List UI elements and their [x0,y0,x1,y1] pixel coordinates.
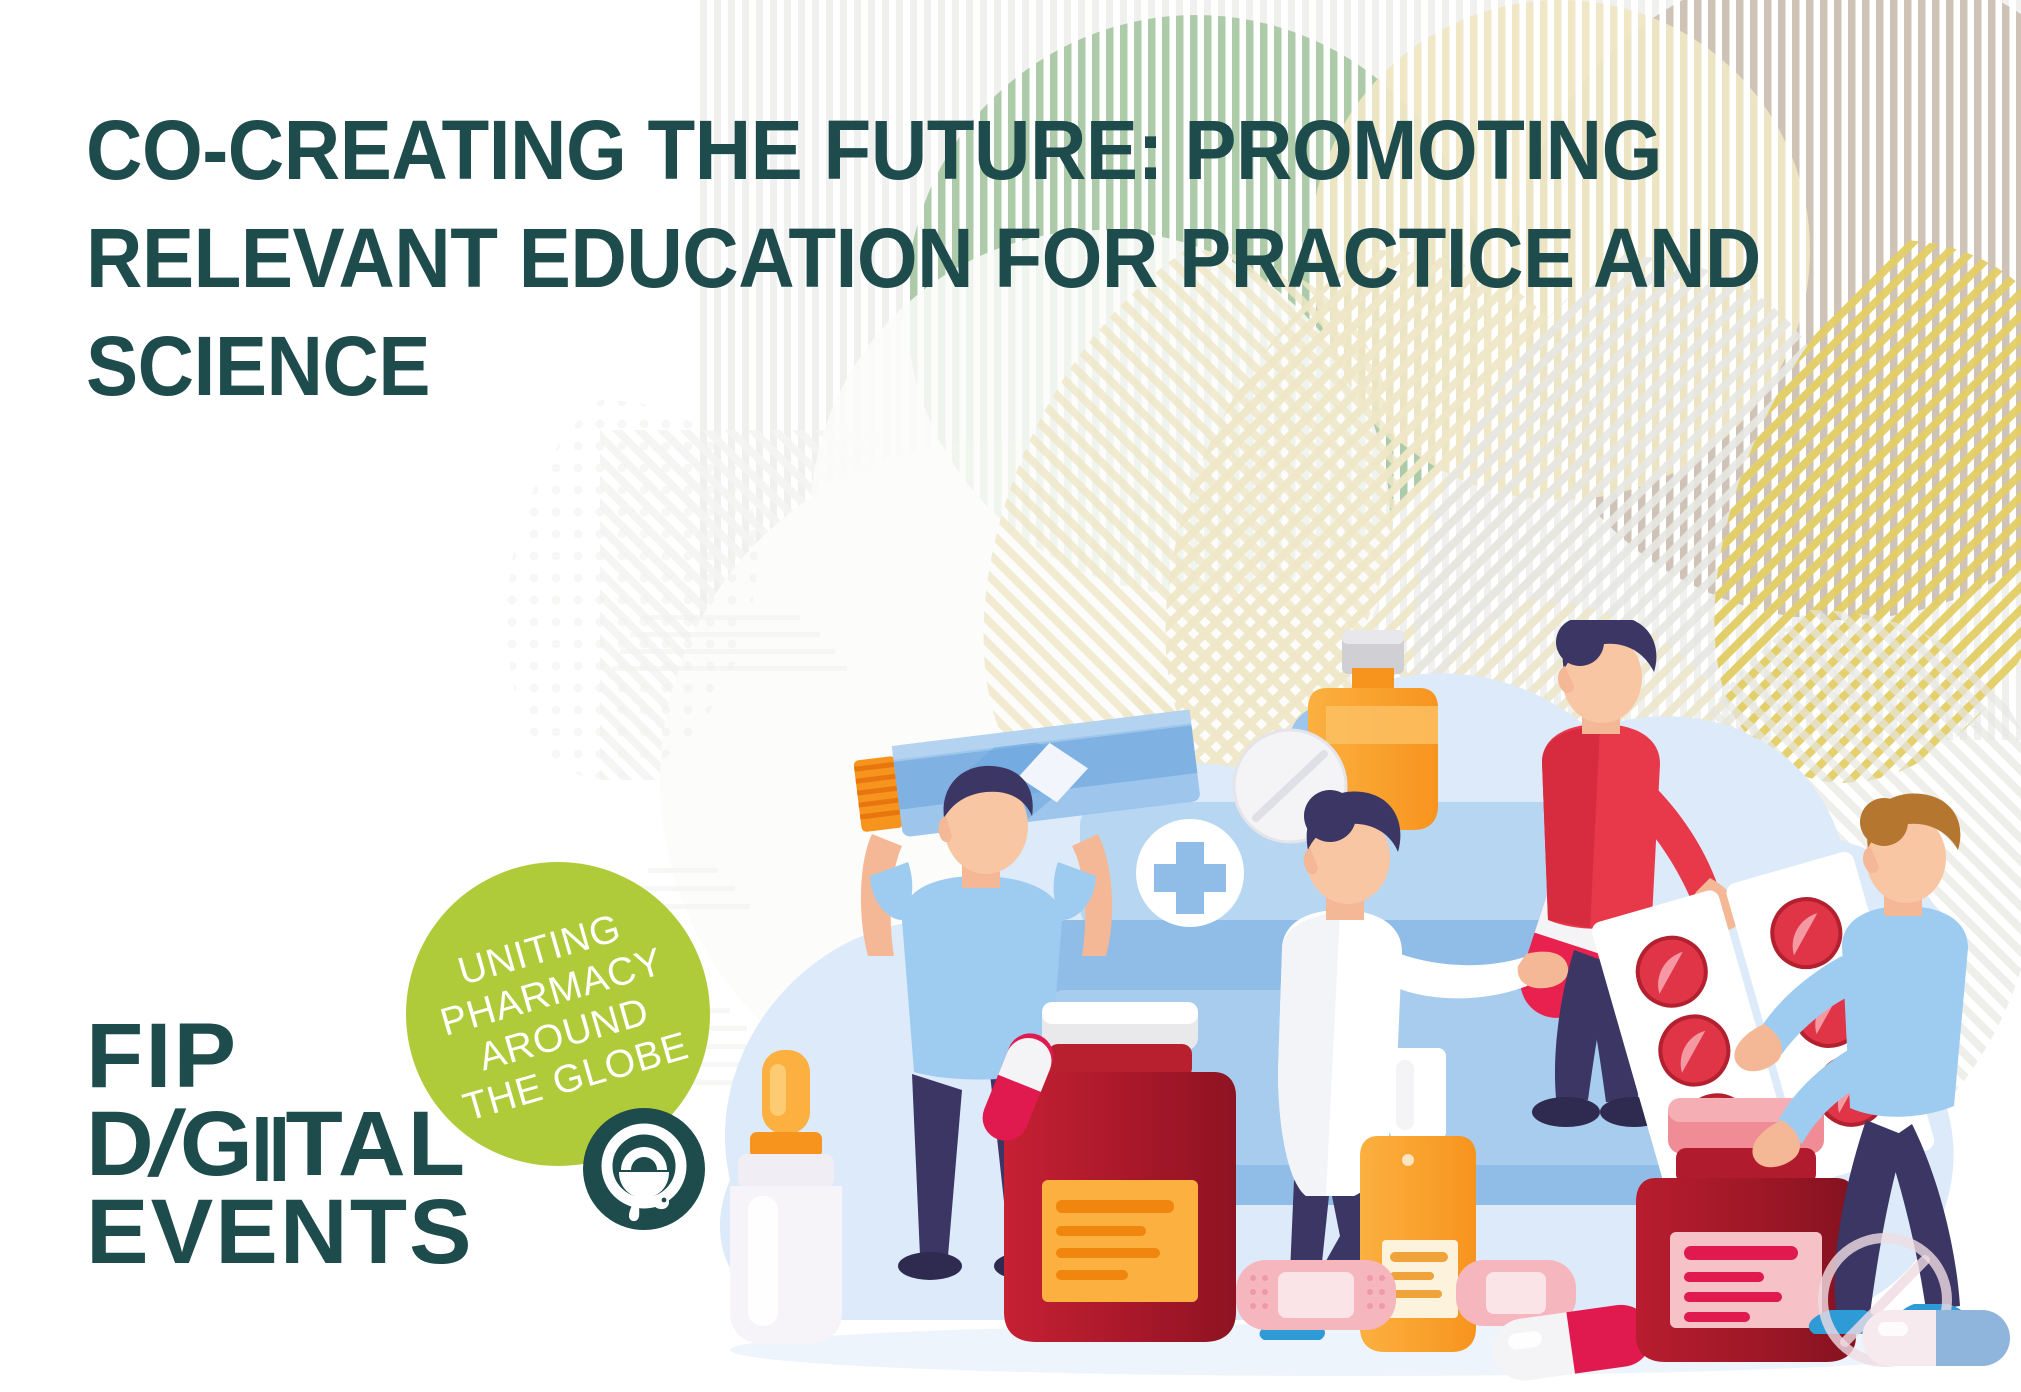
title-line-1: CO-CREATING THE FUTURE: PROMOTING [86,96,1648,204]
fip-emblem-icon [583,1108,705,1230]
title-line-2: RELEVANT EDUCATION FOR PRACTICE AND [86,204,1648,312]
banner-canvas: CO-CREATING THE FUTURE: PROMOTING RELEVA… [0,0,2021,1392]
logo-line-digital: D/GTAL [86,1100,474,1188]
title-line-3: SCIENCE [86,312,1648,420]
banner-title: CO-CREATING THE FUTURE: PROMOTING RELEVA… [86,96,1766,420]
pharmacy-illustration [690,620,2021,1392]
fip-digital-events-logo: FIP D/GTAL EVENTS [86,1012,466,1276]
logo-line-events: EVENTS [86,1188,474,1276]
logo-line-fip: FIP [86,1012,474,1100]
logo-digital-tal: TAL [285,1093,467,1195]
logo-digital-g: G [180,1093,255,1195]
adhesive-bandage-left [1236,1260,1396,1330]
logo-digital-i-bars [255,1117,286,1181]
